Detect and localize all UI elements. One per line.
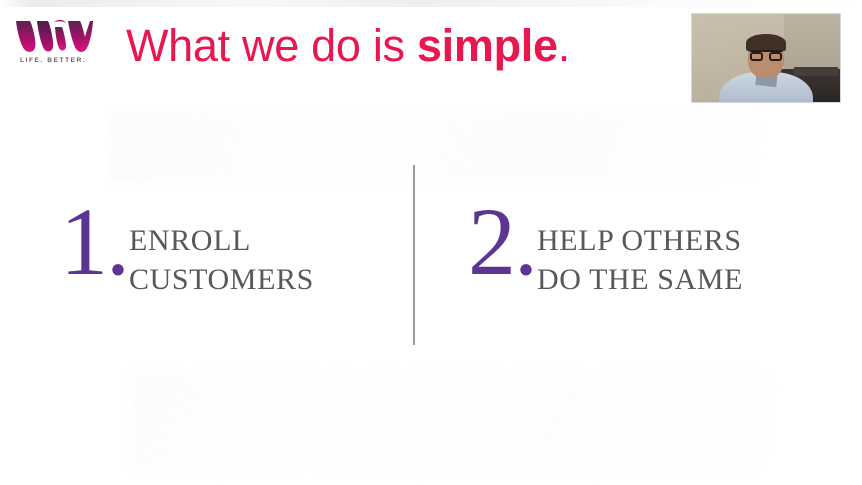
list-item: 1. ENROLLCUSTOMERS <box>60 198 314 299</box>
glasses-lens-left <box>750 52 764 61</box>
point-label-line1: ENROLL <box>129 224 251 257</box>
presenter-glasses-icon <box>750 50 783 61</box>
glasses-lens-right <box>769 52 783 61</box>
background-artifact-middle <box>110 112 760 182</box>
viv-wordmark-icon <box>14 18 96 54</box>
brand-logo: LIFE. BETTER. <box>14 18 106 64</box>
vertical-divider <box>413 165 415 345</box>
slide-title-period: . <box>558 20 570 71</box>
slide-title-plain: What we do is <box>126 20 417 71</box>
presenter-video-frame <box>692 14 840 102</box>
point-label: HELP OTHERSDO THE SAME <box>537 221 743 299</box>
background-artifact-bottom <box>130 372 770 472</box>
point-label-line1: HELP OTHERS <box>537 224 742 257</box>
point-label-line2: DO THE SAME <box>537 260 743 299</box>
background-artifact-top <box>0 0 862 7</box>
slide-title: What we do is simple. <box>126 19 570 73</box>
presenter-video-thumbnail[interactable] <box>691 13 841 103</box>
point-label: ENROLLCUSTOMERS <box>129 221 314 299</box>
point-label-line2: CUSTOMERS <box>129 260 314 299</box>
point-number: 2. <box>468 194 536 290</box>
point-number: 1. <box>60 194 128 290</box>
slide-title-emphasis: simple <box>417 20 558 71</box>
logo-tagline: LIFE. BETTER. <box>20 57 106 64</box>
video-desk-edge <box>794 67 838 76</box>
presentation-slide: LIFE. BETTER. What we do is simple. 1. E… <box>0 0 862 485</box>
list-item: 2. HELP OTHERSDO THE SAME <box>468 198 743 299</box>
